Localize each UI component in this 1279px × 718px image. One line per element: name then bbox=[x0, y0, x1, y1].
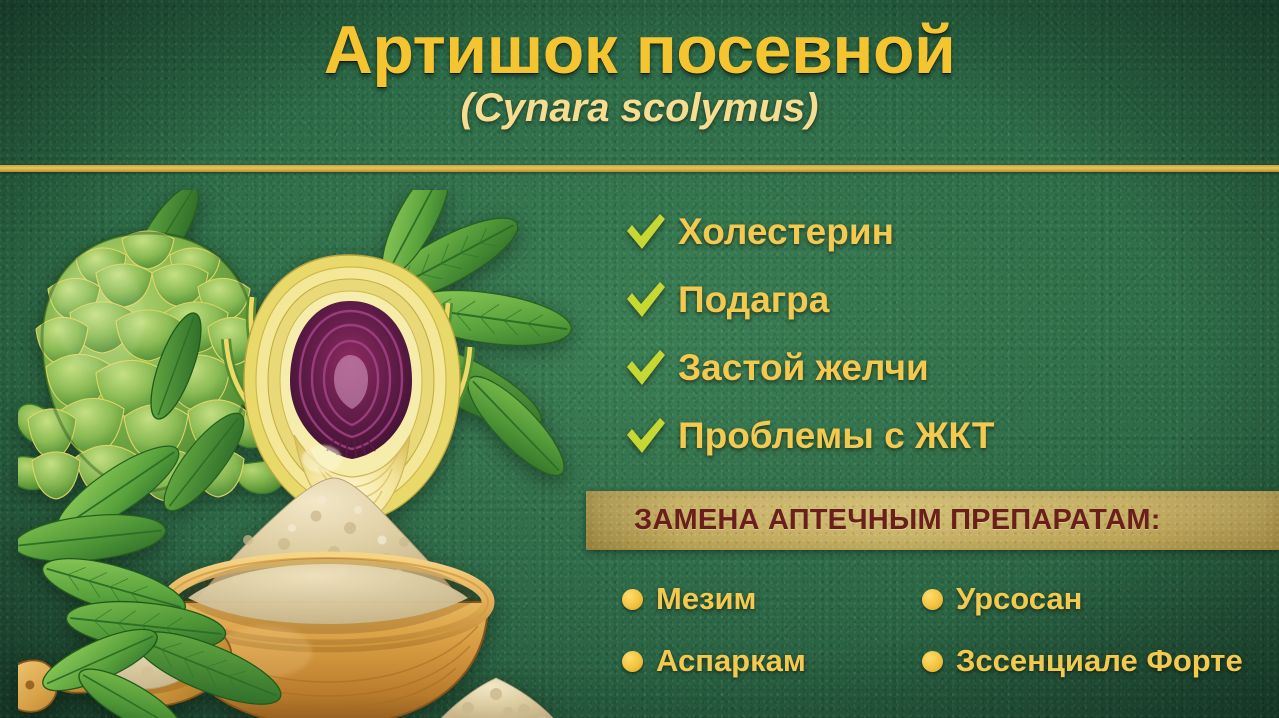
benefit-item: Подагра bbox=[622, 266, 1262, 334]
replacement-band: ЗАМЕНА АПТЕЧНЫМ ПРЕПАРАТАМ: bbox=[586, 491, 1279, 550]
checkmark-icon bbox=[622, 209, 668, 255]
gold-divider-rule bbox=[0, 165, 1279, 172]
artichoke-powder-bowl-illustration bbox=[18, 190, 618, 718]
drug-item: Зссенциале Форте bbox=[922, 630, 1279, 692]
benefit-item: Застой желчи bbox=[622, 334, 1262, 402]
drug-item: Урсосан bbox=[922, 568, 1279, 630]
benefit-label: Застой желчи bbox=[678, 347, 929, 389]
replacement-band-title: ЗАМЕНА АПТЕЧНЫМ ПРЕПАРАТАМ: bbox=[634, 504, 1161, 537]
checkmark-icon bbox=[622, 345, 668, 391]
header: Артишок посевной (Cynara scolymus) bbox=[0, 0, 1279, 167]
benefits-checklist: Холестерин Подагра Застой желчи Проблемы… bbox=[622, 198, 1262, 470]
checkmark-icon bbox=[622, 413, 668, 459]
drug-replacement-list: Мезим Урсосан Аспаркам Зссенциале Форте bbox=[622, 568, 1279, 692]
bullet-icon bbox=[622, 589, 643, 610]
bullet-icon bbox=[622, 651, 643, 672]
checkmark-icon bbox=[622, 277, 668, 323]
drug-label: Урсосан bbox=[956, 581, 1082, 617]
drug-item: Мезим bbox=[622, 568, 922, 630]
poster-root: Артишок посевной (Cynara scolymus) bbox=[0, 0, 1279, 718]
bullet-icon bbox=[922, 651, 943, 672]
drug-label: Зссенциале Форте bbox=[956, 643, 1243, 679]
drug-item: Аспаркам bbox=[622, 630, 922, 692]
benefit-item: Холестерин bbox=[622, 198, 1262, 266]
benefit-label: Проблемы с ЖКТ bbox=[678, 415, 995, 457]
page-title: Артишок посевной bbox=[0, 16, 1279, 85]
bullet-icon bbox=[922, 589, 943, 610]
benefit-label: Подагра bbox=[678, 279, 829, 321]
latin-name-subtitle: (Cynara scolymus) bbox=[0, 87, 1279, 129]
drug-label: Аспаркам bbox=[656, 643, 806, 679]
benefit-item: Проблемы с ЖКТ bbox=[622, 402, 1262, 470]
benefit-label: Холестерин bbox=[678, 211, 894, 253]
drug-label: Мезим bbox=[656, 581, 756, 617]
